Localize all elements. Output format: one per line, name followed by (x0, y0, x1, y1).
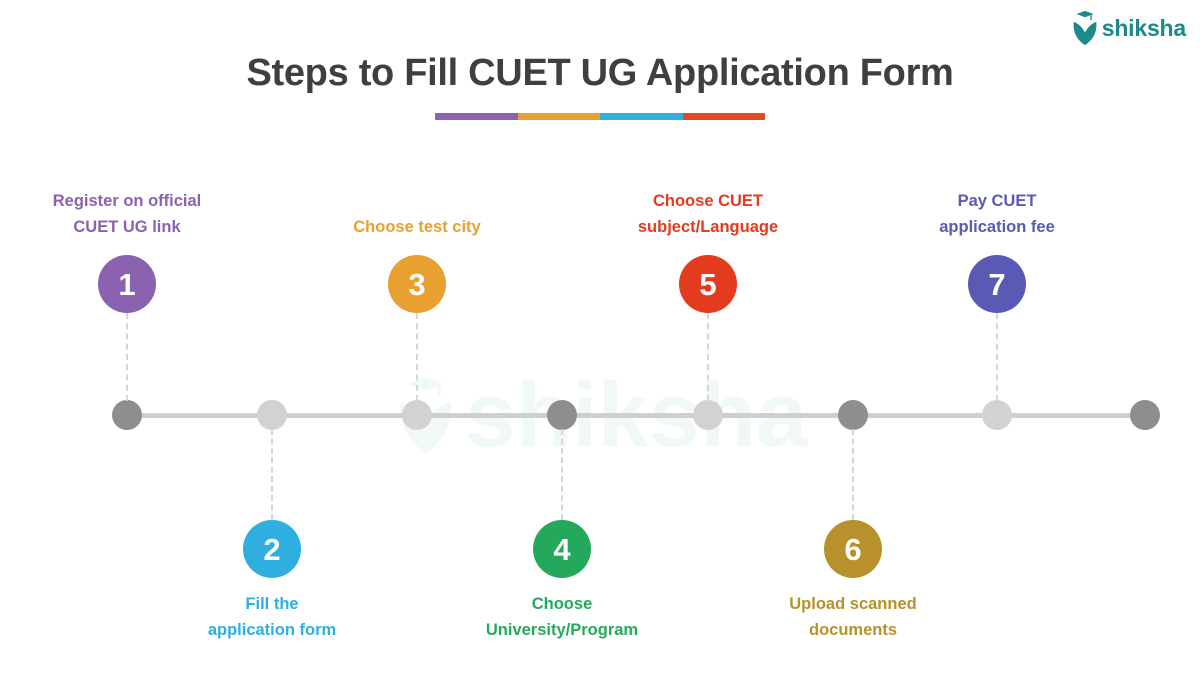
step-label-5: Choose CUET subject/Language (588, 189, 828, 240)
connector-step-6 (852, 429, 854, 520)
brand-name: shiksha (1102, 17, 1186, 40)
step-circle-6[interactable]: 6 (824, 520, 882, 578)
timeline-dot-3 (402, 400, 432, 430)
page-title: Steps to Fill CUET UG Application Form (0, 52, 1200, 95)
title-underline-bar (435, 113, 765, 120)
title-underline-segment-4 (683, 113, 766, 120)
timeline-dot-2 (257, 400, 287, 430)
step-label-3: Choose test city (297, 215, 537, 241)
connector-step-1 (126, 313, 128, 401)
timeline-dot-4 (547, 400, 577, 430)
timeline-dot-6 (838, 400, 868, 430)
title-underline-segment-2 (518, 113, 601, 120)
connector-step-2 (271, 429, 273, 520)
brand-logo: shiksha (1070, 10, 1186, 46)
step-label-4: Choose University/Program (442, 592, 682, 643)
infographic-canvas: shiksha shiksha Steps to Fill CUET UG Ap… (0, 0, 1200, 675)
step-label-7: Pay CUET application fee (877, 189, 1117, 240)
shiksha-graduation-leaf-icon (1070, 10, 1100, 46)
step-circle-3[interactable]: 3 (388, 255, 446, 313)
step-label-2: Fill the application form (152, 592, 392, 643)
connector-step-7 (996, 313, 998, 401)
timeline-dot-5 (693, 400, 723, 430)
title-underline-segment-3 (600, 113, 683, 120)
title-underline-segment-1 (435, 113, 518, 120)
connector-step-4 (561, 429, 563, 520)
connector-step-5 (707, 313, 709, 401)
step-circle-5[interactable]: 5 (679, 255, 737, 313)
timeline-dot-1 (112, 400, 142, 430)
step-circle-2[interactable]: 2 (243, 520, 301, 578)
step-label-1: Register on official CUET UG link (7, 189, 247, 240)
timeline-dot-7 (982, 400, 1012, 430)
step-label-6: Upload scanned documents (733, 592, 973, 643)
step-circle-1[interactable]: 1 (98, 255, 156, 313)
step-circle-4[interactable]: 4 (533, 520, 591, 578)
timeline-dot-8 (1130, 400, 1160, 430)
step-circle-7[interactable]: 7 (968, 255, 1026, 313)
connector-step-3 (416, 313, 418, 401)
